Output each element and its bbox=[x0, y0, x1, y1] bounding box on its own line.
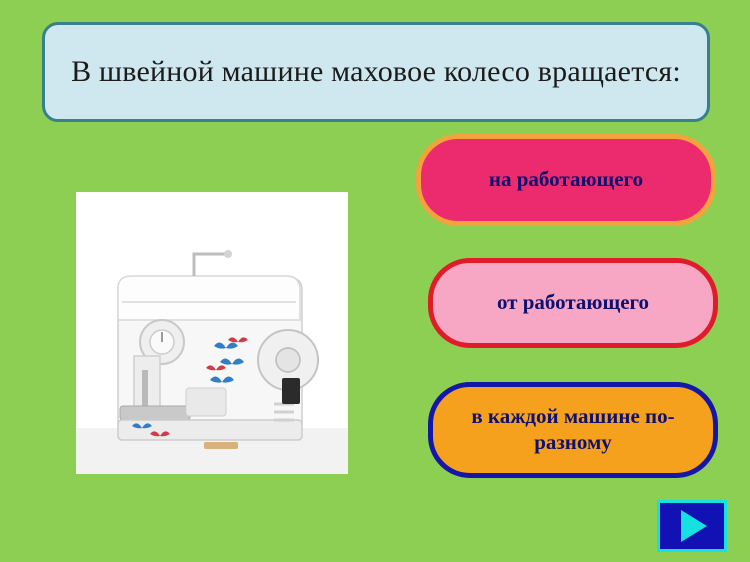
sewing-machine-photo bbox=[76, 192, 348, 474]
next-button[interactable] bbox=[657, 500, 727, 552]
sewing-machine-illustration bbox=[76, 192, 348, 474]
question-banner: В швейной машине маховое колесо вращаетс… bbox=[42, 22, 710, 122]
question-text: В швейной машине маховое колесо вращаетс… bbox=[71, 53, 681, 91]
answer-option-3-label: в каждой машине по-разному bbox=[449, 404, 697, 455]
quiz-slide: В швейной машине маховое колесо вращаетс… bbox=[0, 0, 750, 562]
play-triangle-icon bbox=[681, 510, 707, 542]
answer-option-1[interactable]: на работающего bbox=[416, 134, 716, 226]
answer-option-2[interactable]: от работающего bbox=[428, 258, 718, 348]
answer-option-1-label: на работающего bbox=[489, 167, 643, 193]
answer-option-3[interactable]: в каждой машине по-разному bbox=[428, 382, 718, 478]
answer-option-2-label: от работающего bbox=[497, 290, 649, 316]
